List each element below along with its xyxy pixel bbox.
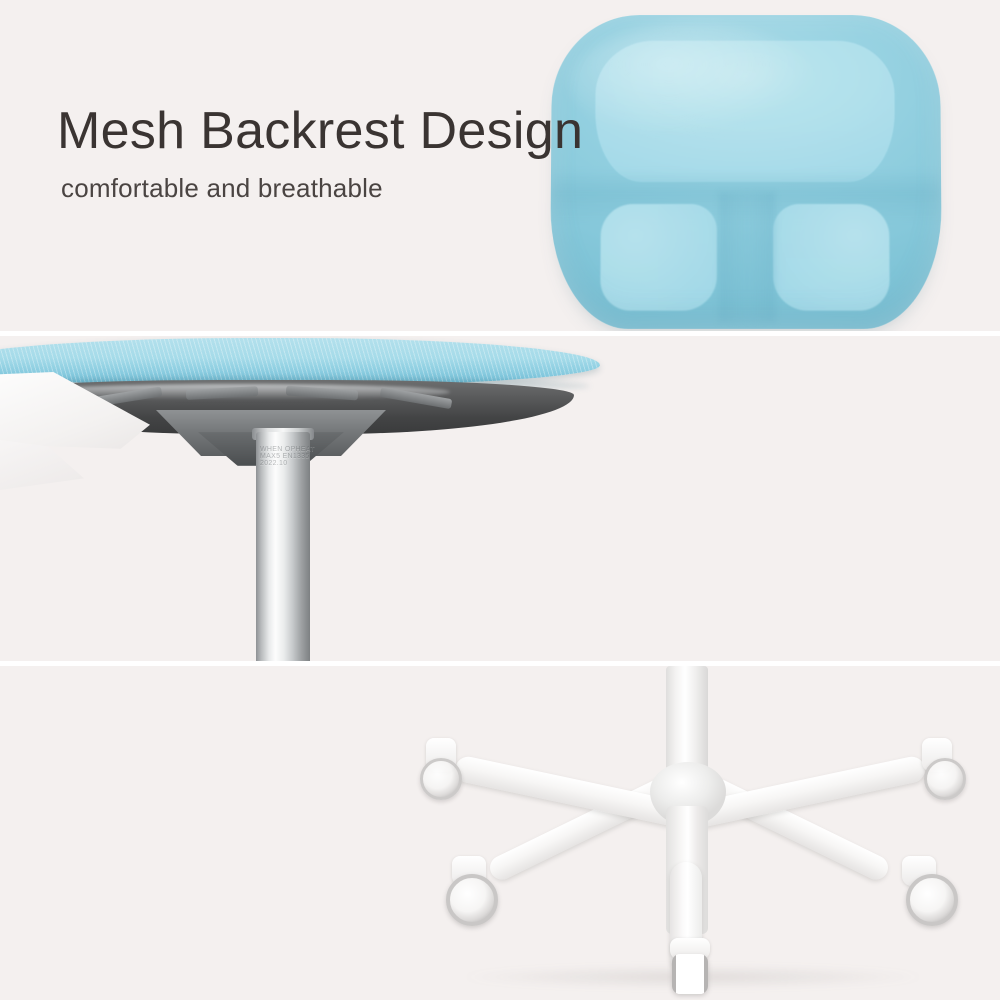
cylinder-engraving-text: WHEN OPHEAT MAX5 EN1335 2022.10 [260, 446, 308, 486]
caster-wheel [672, 954, 708, 994]
panel-five-claw-structure: 5-Claw Structure material is PP+FG30%, t… [0, 666, 1000, 1000]
backrest-text-block: Mesh Backrest Design comfortable and bre… [57, 104, 583, 204]
backrest-headline: Mesh Backrest Design [57, 104, 583, 159]
caster-wheel [446, 874, 498, 926]
panel-mesh-backrest: Mesh Backrest Design comfortable and bre… [0, 0, 1000, 331]
seat-and-cylinder-image: WHEN OPHEAT MAX5 EN1335 2022.10 [0, 336, 640, 661]
backrest-subline: comfortable and breathable [61, 173, 583, 204]
chair-backrest-image [550, 15, 942, 329]
cylinder-engrave-line: MAX5 EN1335 [260, 453, 308, 460]
backrest-rim [550, 15, 942, 329]
panel-sgs-cylinder: WHEN OPHEAT MAX5 EN1335 2022.10 WHEN OPH… [0, 336, 1000, 661]
infographic-page: Mesh Backrest Design comfortable and bre… [0, 0, 1000, 1000]
caster-wheel [906, 874, 958, 926]
cylinder-engrave-line: WHEN OPHEAT [260, 446, 308, 453]
cylinder-engrave-line: 2022.10 [260, 460, 308, 467]
caster-wheel [924, 758, 966, 800]
five-star-base-image [398, 666, 1000, 1000]
caster-wheel [420, 758, 462, 800]
